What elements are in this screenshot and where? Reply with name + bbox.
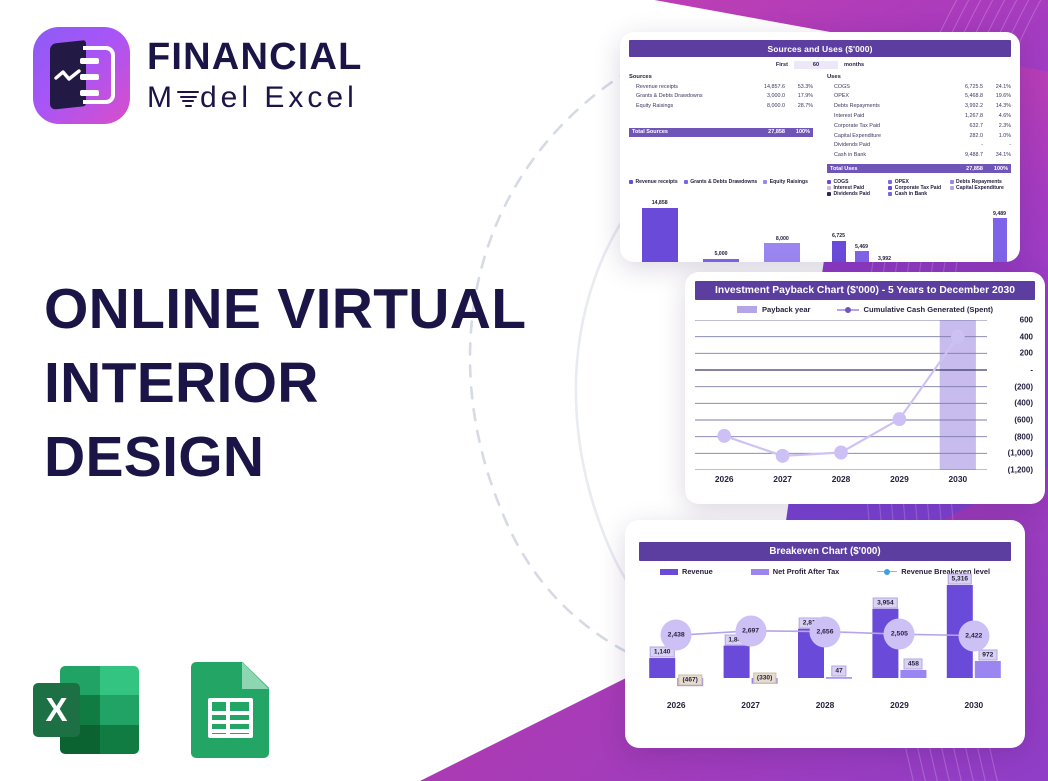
breakeven-level-bubble: 2,422 (958, 620, 989, 651)
table-row: Debts Repayments3,992.214.3% (827, 102, 1011, 112)
payback-legend-item-line: Cumulative Cash Generated (Spent) (837, 305, 994, 314)
sources-uses-charts: Revenue receiptsGrants & Debts Drawdowns… (629, 179, 1011, 262)
bar-rect (703, 259, 739, 263)
use-row-label: Interest Paid (827, 112, 945, 122)
bar-value-label: 3,992 (878, 256, 891, 262)
logo-o-glyph-icon (177, 87, 199, 109)
legend-swatch (888, 180, 892, 184)
uses-total-value: 27,858 (945, 166, 983, 172)
source-row-value: 3,000.0 (747, 92, 785, 102)
bar-value-label: 8,000 (776, 236, 789, 242)
bar-value-label: 9,489 (993, 211, 1006, 217)
sources-table: Sources Revenue receipts14,857.653.3%Gra… (629, 74, 813, 173)
legend-item: Capital Expenditure (950, 185, 1011, 191)
breakeven-chart-title: Breakeven Chart ($'000) (639, 542, 1011, 561)
brand-line-2-before: M (147, 83, 176, 113)
uses-total-label: Total Uses (827, 166, 945, 172)
legend-swatch (888, 186, 892, 190)
legend-item: Dividends Paid (827, 191, 888, 197)
sources-uses-title: Sources and Uses ($'000) (629, 40, 1011, 57)
x-axis-tick-label: 2027 (753, 474, 811, 484)
breakeven-legend-swatch-npat (751, 569, 769, 575)
brand-wordmark: FINANCIAL M del Excel (147, 38, 363, 113)
breakeven-level-bubble: 2,505 (884, 619, 915, 650)
bar-column: 6,725 (832, 201, 846, 262)
npat-value-label: (330) (753, 672, 776, 683)
use-row-label: Cash in Bank (827, 151, 945, 161)
use-row-value: 3,992.2 (945, 102, 983, 112)
sources-uses-months-row: First 60 months (629, 61, 1011, 69)
use-row-pct: - (983, 141, 1011, 151)
google-sheets-icon (191, 662, 269, 758)
x-axis-tick-label: 2028 (812, 474, 870, 484)
use-row-value: - (945, 141, 983, 151)
x-axis-tick-label: 2028 (788, 700, 862, 710)
use-row-label: Dividends Paid (827, 141, 945, 151)
bar-column: 5,000 (703, 189, 739, 262)
legend-label: Cash in Bank (895, 191, 927, 197)
payback-legend-swatch-line (837, 309, 859, 311)
bar-column: 1,268 (901, 201, 915, 262)
page-title: ONLINE VIRTUAL INTERIOR DESIGN (44, 272, 526, 494)
bar-rect (993, 218, 1007, 262)
table-row: Capital Expenditure282.01.0% (827, 132, 1011, 142)
uses-chart-block: COGSOPEXDebts RepaymentsInterest PaidCor… (827, 179, 1011, 262)
breakeven-card: Breakeven Chart ($'000) Revenue Net Prof… (625, 520, 1025, 748)
source-row-label: Revenue receipts (629, 83, 747, 93)
breakeven-legend-swatch-level (877, 571, 897, 573)
bar-column: 9,489 (993, 201, 1007, 262)
bar-column: 0 (970, 201, 984, 262)
use-row-value: 632.7 (945, 122, 983, 132)
legend-swatch (684, 180, 688, 184)
y-axis-tick-label: (800) (1014, 432, 1033, 441)
use-row-label: Debts Repayments (827, 102, 945, 112)
use-row-label: OPEX (827, 92, 945, 102)
y-axis-tick-label: 400 (1020, 332, 1033, 341)
use-row-label: COGS (827, 83, 945, 93)
revenue-value-label: 5,316 (948, 573, 973, 584)
use-row-label: Capital Expenditure (827, 132, 945, 142)
use-row-value: 5,468.8 (945, 92, 983, 102)
uses-chart-legend: COGSOPEXDebts RepaymentsInterest PaidCor… (827, 179, 1011, 197)
breakeven-legend-item-revenue: Revenue (660, 567, 713, 576)
payback-plot-area: 600400200-(200)(400)(600)(800)(1,000)(1,… (695, 320, 987, 470)
table-row: Dividends Paid-- (827, 141, 1011, 151)
use-row-pct: 19.6% (983, 92, 1011, 102)
legend-label: Grants & Debts Drawdowns (690, 179, 757, 185)
headline-line-2: INTERIOR (44, 346, 526, 420)
breakeven-level-bubble: 2,656 (810, 616, 841, 647)
table-row: Equity Raisings8,000.028.7% (629, 102, 813, 112)
bar-value-label: 14,858 (652, 200, 668, 206)
legend-label: Equity Raisings (770, 179, 808, 185)
breakeven-plot-area: 1,140(467)1,848(330)2,814473,9544585,316… (639, 580, 1011, 692)
legend-item: Revenue receipts (629, 179, 678, 185)
revenue-value-label: 3,954 (873, 597, 898, 608)
y-axis-tick-label: (600) (1014, 416, 1033, 425)
use-row-label: Corporate Tax Paid (827, 122, 945, 132)
financial-model-excel-logo-icon (33, 27, 130, 124)
legend-swatch (950, 186, 954, 190)
logo-sparkline-icon (54, 69, 82, 83)
source-row-pct: 53.3% (785, 83, 813, 93)
source-row-pct: 17.9% (785, 92, 813, 102)
legend-swatch (950, 180, 954, 184)
uses-table: Uses COGS6,725.524.1%OPEX5,468.819.6%Deb… (827, 74, 1011, 173)
table-row: Corporate Tax Paid632.72.3% (827, 122, 1011, 132)
sources-total-value: 27,858 (747, 129, 785, 135)
x-axis-tick-label: 2026 (639, 700, 713, 710)
legend-swatch (827, 180, 831, 184)
legend-item: Grants & Debts Drawdowns (684, 179, 758, 185)
use-row-pct: 24.1% (983, 83, 1011, 93)
use-row-pct: 4.6% (983, 112, 1011, 122)
breakeven-legend-item-level: Revenue Breakeven level (877, 567, 990, 576)
y-axis-tick-label: (200) (1014, 382, 1033, 391)
legend-label: Dividends Paid (834, 191, 871, 197)
bar-value-label: 6,725 (832, 233, 845, 239)
npat-value-label: (467) (678, 675, 701, 686)
legend-swatch (888, 192, 892, 196)
legend-swatch (763, 180, 767, 184)
y-axis-tick-label: 200 (1020, 349, 1033, 358)
breakeven-legend-label-npat: Net Profit After Tax (773, 567, 840, 576)
bar-value-label: 5,000 (714, 251, 727, 257)
bar-value-label: 5,469 (855, 244, 868, 250)
table-row: COGS6,725.524.1% (827, 83, 1011, 93)
sources-uses-tables: Sources Revenue receipts14,857.653.3%Gra… (629, 74, 1011, 173)
legend-swatch (629, 180, 633, 184)
uses-total-pct: 100% (983, 166, 1011, 172)
bar-rect (642, 208, 678, 262)
brand-line-1: FINANCIAL (147, 38, 363, 76)
y-axis-tick-label: (1,000) (1008, 449, 1033, 458)
sources-header: Sources (629, 74, 813, 80)
use-row-value: 282.0 (945, 132, 983, 142)
breakeven-level-bubble: 2,438 (661, 620, 692, 651)
bar-column: 5,469 (855, 201, 869, 262)
legend-item: Equity Raisings (763, 179, 808, 185)
y-axis-tick-label: 600 (1020, 316, 1033, 325)
bar-column: 633 (924, 201, 938, 262)
x-axis-tick-label: 2027 (713, 700, 787, 710)
payback-chart-title: Investment Payback Chart ($'000) - 5 Yea… (695, 281, 1035, 300)
payback-y-axis-labels: 600400200-(200)(400)(600)(800)(1,000)(1,… (987, 320, 1033, 470)
use-row-value: 9,488.7 (945, 151, 983, 161)
use-row-pct: 2.3% (983, 122, 1011, 132)
y-axis-tick-label: (1,200) (1008, 466, 1033, 475)
table-row: Revenue receipts14,857.653.3% (629, 83, 813, 93)
payback-legend-label-line: Cumulative Cash Generated (Spent) (864, 305, 994, 314)
payback-x-axis-labels: 20262027202820292030 (695, 474, 987, 484)
sources-total-row: Total Sources 27,858 100% (629, 128, 813, 137)
table-row: OPEX5,468.819.6% (827, 92, 1011, 102)
source-row-label: Grants & Debts Drawdowns (629, 92, 747, 102)
legend-label: Capital Expenditure (956, 185, 1004, 191)
breakeven-level-bubble: 2,697 (735, 615, 766, 646)
brand-logo: FINANCIAL M del Excel (33, 27, 363, 124)
npat-value-label: 47 (831, 666, 846, 677)
uses-header: Uses (827, 74, 1011, 80)
app-icon-row: X (33, 662, 269, 758)
payback-legend-label-bar: Payback year (762, 305, 811, 314)
x-axis-tick-label: 2030 (929, 474, 987, 484)
sheets-table-glyph (208, 698, 253, 738)
sources-total-label: Total Sources (629, 129, 747, 135)
source-row-pct: 28.7% (785, 102, 813, 112)
use-row-pct: 14.3% (983, 102, 1011, 112)
investment-payback-card: Investment Payback Chart ($'000) - 5 Yea… (685, 272, 1045, 504)
bar-column: 282 (947, 201, 961, 262)
breakeven-legend-label-level: Revenue Breakeven level (901, 567, 990, 576)
headline-line-3: DESIGN (44, 420, 526, 494)
brand-line-2-after: del Excel (200, 83, 358, 113)
payback-chart-svg (695, 320, 987, 470)
x-axis-tick-label: 2029 (862, 700, 936, 710)
bar-rect (764, 243, 800, 262)
source-row-label: Equity Raisings (629, 102, 747, 112)
use-row-value: 6,725.5 (945, 83, 983, 93)
payback-chart-legend: Payback year Cumulative Cash Generated (… (695, 305, 1035, 314)
use-row-pct: 34.1% (983, 151, 1011, 161)
npat-value-label: 972 (978, 649, 997, 660)
payback-legend-swatch-bar (737, 306, 757, 313)
legend-swatch (827, 186, 831, 190)
y-axis-tick-label: (400) (1014, 399, 1033, 408)
legend-label: Revenue receipts (636, 179, 678, 185)
breakeven-legend-item-npat: Net Profit After Tax (751, 567, 840, 576)
microsoft-excel-icon: X (33, 662, 139, 758)
uses-bar-chart: 6,7255,4693,9921,26863328209,489 (827, 201, 1011, 262)
use-row-pct: 1.0% (983, 132, 1011, 142)
bar-rect (855, 251, 869, 262)
legend-swatch (827, 192, 831, 196)
excel-x-glyph: X (33, 683, 80, 737)
legend-item: Cash in Bank (888, 191, 949, 197)
sources-chart-block: Revenue receiptsGrants & Debts Drawdowns… (629, 179, 813, 262)
headline-line-1: ONLINE VIRTUAL (44, 272, 526, 346)
breakeven-legend-swatch-revenue (660, 569, 678, 575)
y-axis-tick-label: - (1030, 366, 1033, 375)
bar-rect (832, 241, 846, 262)
sources-bar-chart: 14,8585,0008,000 (629, 189, 813, 262)
table-row: Grants & Debts Drawdowns3,000.017.9% (629, 92, 813, 102)
logo-sheet-shape (83, 46, 115, 104)
x-axis-tick-label: 2029 (870, 474, 928, 484)
months-value-input[interactable]: 60 (794, 61, 838, 69)
x-axis-tick-label: 2026 (695, 474, 753, 484)
bar-column: 8,000 (764, 189, 800, 262)
sources-and-uses-card: Sources and Uses ($'000) First 60 months… (620, 32, 1020, 262)
breakeven-legend-label-revenue: Revenue (682, 567, 713, 576)
sources-chart-legend: Revenue receiptsGrants & Debts Drawdowns… (629, 179, 813, 185)
payback-legend-item-bar: Payback year (737, 305, 811, 314)
breakeven-x-axis-labels: 20262027202820292030 (639, 700, 1011, 710)
table-row: Interest Paid1,267.84.6% (827, 112, 1011, 122)
source-row-value: 14,857.6 (747, 83, 785, 93)
sources-spacer (629, 112, 813, 125)
source-row-value: 8,000.0 (747, 102, 785, 112)
sources-total-pct: 100% (785, 129, 813, 135)
brand-line-2: M del Excel (147, 83, 363, 113)
months-suffix-label: months (844, 62, 864, 68)
months-prefix-label: First (776, 62, 788, 68)
table-row: Cash in Bank9,488.734.1% (827, 151, 1011, 161)
npat-value-label: 458 (904, 658, 923, 669)
bar-column: 14,858 (642, 189, 678, 262)
use-row-value: 1,267.8 (945, 112, 983, 122)
x-axis-tick-label: 2030 (937, 700, 1011, 710)
bar-column: 3,992 (878, 201, 892, 262)
uses-total-row: Total Uses 27,858 100% (827, 164, 1011, 173)
